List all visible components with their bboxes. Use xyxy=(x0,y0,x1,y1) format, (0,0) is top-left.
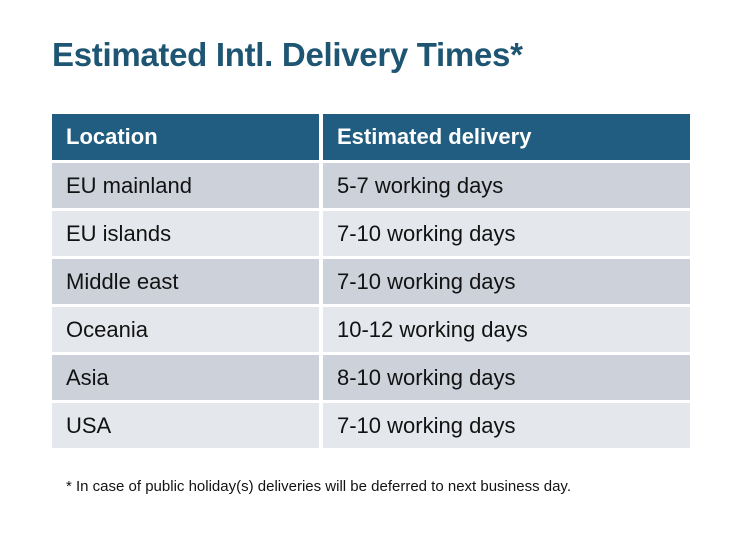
table-row: EU mainland 5-7 working days xyxy=(52,163,690,208)
cell-location: Middle east xyxy=(52,259,319,304)
cell-location: USA xyxy=(52,403,319,448)
cell-delivery: 8-10 working days xyxy=(323,355,690,400)
cell-location: Oceania xyxy=(52,307,319,352)
table-row: USA 7-10 working days xyxy=(52,403,690,448)
table-row: Asia 8-10 working days xyxy=(52,355,690,400)
cell-location: EU islands xyxy=(52,211,319,256)
table-header-row: Location Estimated delivery xyxy=(52,114,690,160)
cell-delivery: 7-10 working days xyxy=(323,403,690,448)
page-title: Estimated Intl. Delivery Times* xyxy=(52,36,523,74)
table-row: Middle east 7-10 working days xyxy=(52,259,690,304)
cell-delivery: 10-12 working days xyxy=(323,307,690,352)
column-header-estimated-delivery: Estimated delivery xyxy=(323,114,690,160)
cell-location: Asia xyxy=(52,355,319,400)
cell-location: EU mainland xyxy=(52,163,319,208)
delivery-times-card: Estimated Intl. Delivery Times* Location… xyxy=(0,0,745,536)
cell-delivery: 7-10 working days xyxy=(323,211,690,256)
table-row: EU islands 7-10 working days xyxy=(52,211,690,256)
column-header-location: Location xyxy=(52,114,319,160)
cell-delivery: 5-7 working days xyxy=(323,163,690,208)
cell-delivery: 7-10 working days xyxy=(323,259,690,304)
delivery-times-table: Location Estimated delivery EU mainland … xyxy=(52,114,690,448)
footnote-text: * In case of public holiday(s) deliverie… xyxy=(66,478,571,495)
table-row: Oceania 10-12 working days xyxy=(52,307,690,352)
